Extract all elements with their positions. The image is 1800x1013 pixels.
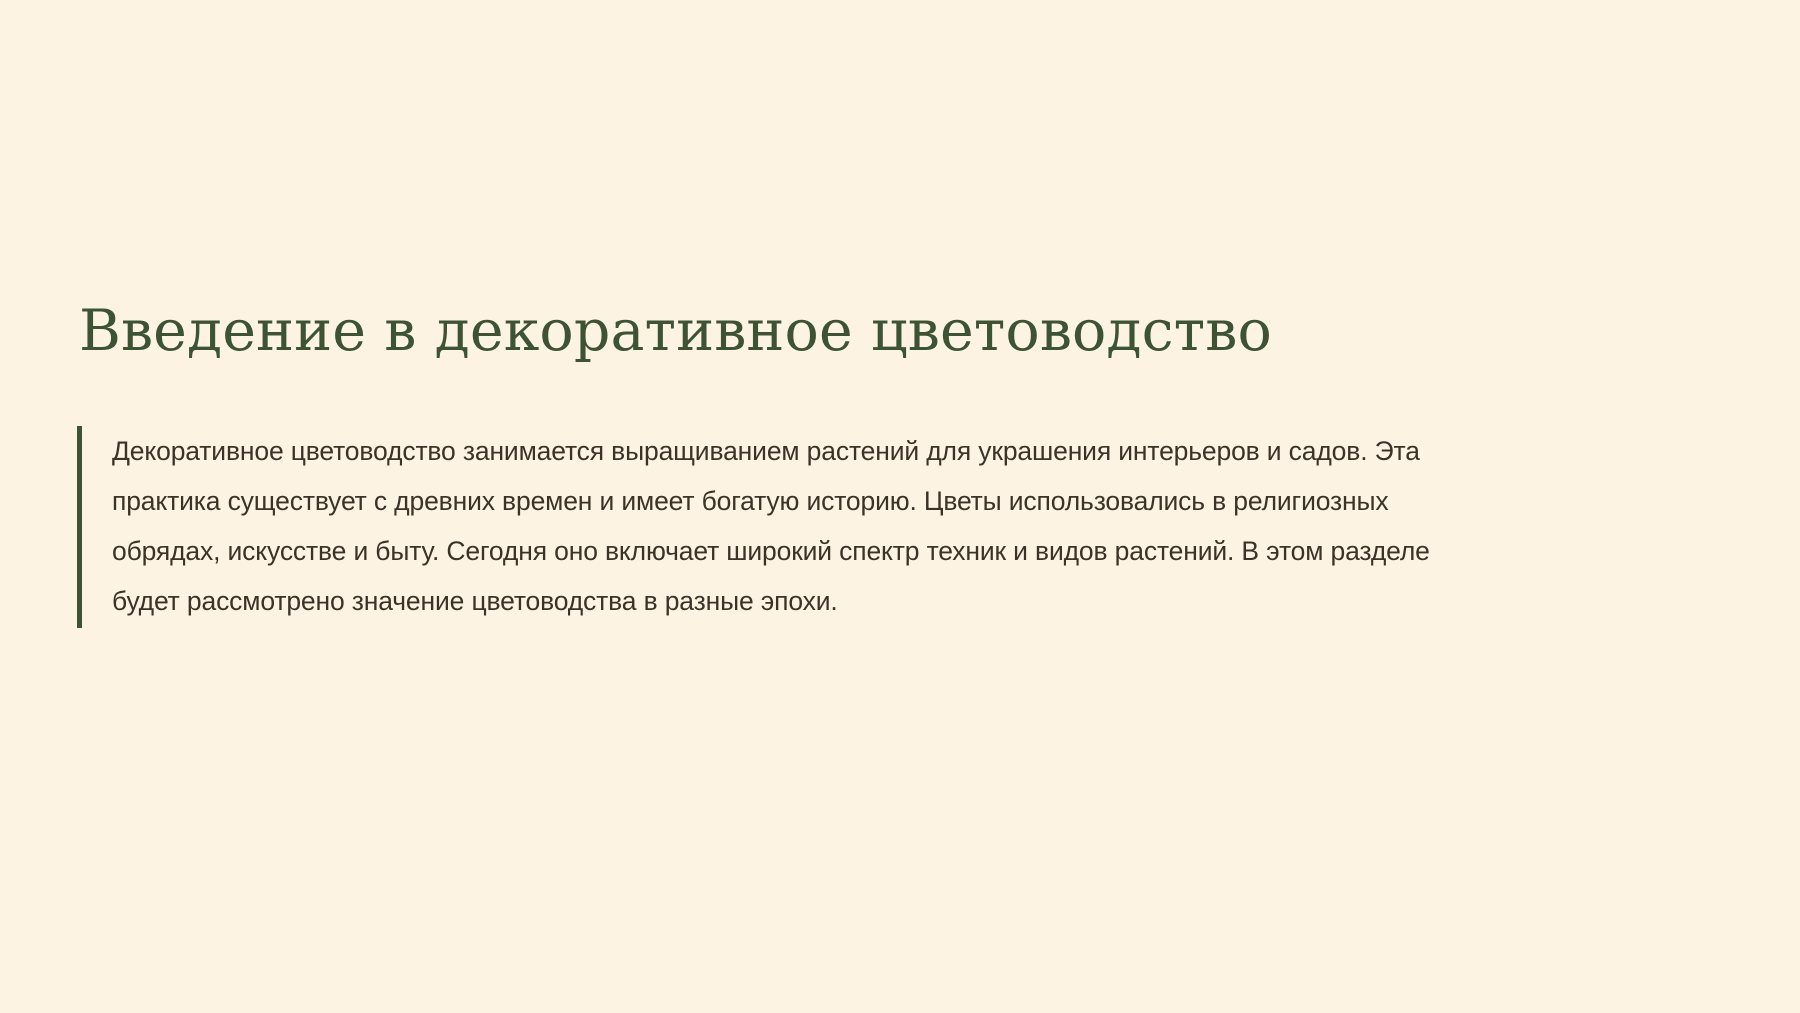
body-callout: Декоративное цветоводство занимается выр… <box>77 426 1697 628</box>
accent-bar <box>77 426 82 628</box>
body-paragraph: Декоративное цветоводство занимается выр… <box>112 426 1497 626</box>
page-title: Введение в декоративное цветоводство <box>77 300 1697 364</box>
content-block: Введение в декоративное цветоводство Дек… <box>77 300 1697 628</box>
slide-canvas: Введение в декоративное цветоводство Дек… <box>0 0 1800 1013</box>
